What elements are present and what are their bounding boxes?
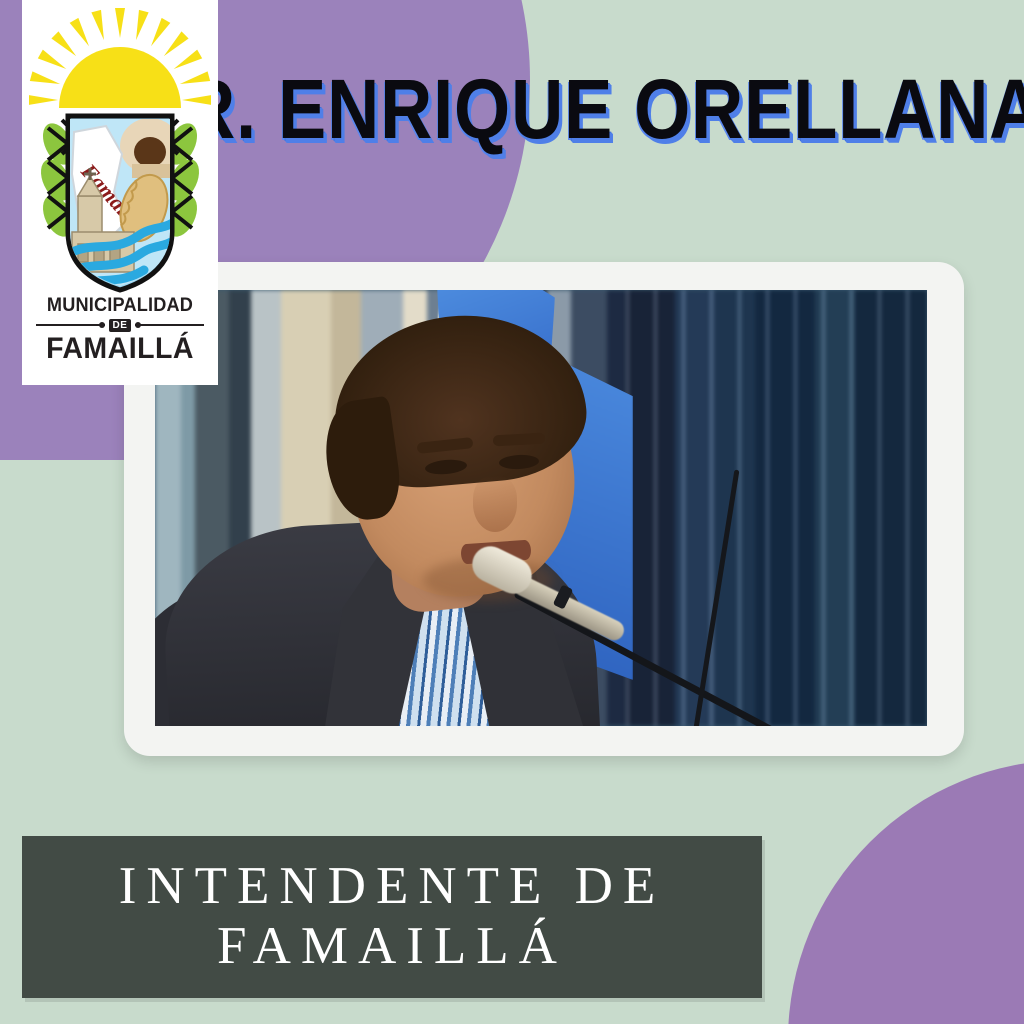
banner-line-1: INTENDENTE DE xyxy=(119,857,666,917)
shield-icon: Famaillá xyxy=(34,104,206,294)
banner-line-2: FAMAILLÁ xyxy=(217,917,567,977)
logo-rule-left xyxy=(36,324,105,326)
sun-rays-icon xyxy=(29,4,211,108)
poster-canvas: DR. ENRIQUE ORELLANA xyxy=(0,0,1024,1024)
logo-line-de: DE xyxy=(109,319,132,332)
portrait-photo xyxy=(155,290,927,726)
logo-wordmark: MUNICIPALIDAD DE FAMAILLÁ xyxy=(22,296,218,364)
logo-rule-right xyxy=(135,324,204,326)
page-title: DR. ENRIQUE ORELLANA xyxy=(268,55,904,163)
status-banner: INTENDENTE DE FAMAILLÁ xyxy=(22,836,762,998)
photo-scene xyxy=(155,290,927,726)
municipality-logo: Famaillá xyxy=(22,0,218,385)
nose xyxy=(473,476,517,532)
logo-line-famailla: FAMAILLÁ xyxy=(27,334,213,364)
photo-frame xyxy=(124,262,964,756)
logo-de-row: DE xyxy=(22,319,218,332)
logo-line-municipalidad: MUNICIPALIDAD xyxy=(29,296,211,316)
purple-circle-bottom-right xyxy=(788,760,1024,1024)
background-vertical-stripes xyxy=(625,290,927,726)
